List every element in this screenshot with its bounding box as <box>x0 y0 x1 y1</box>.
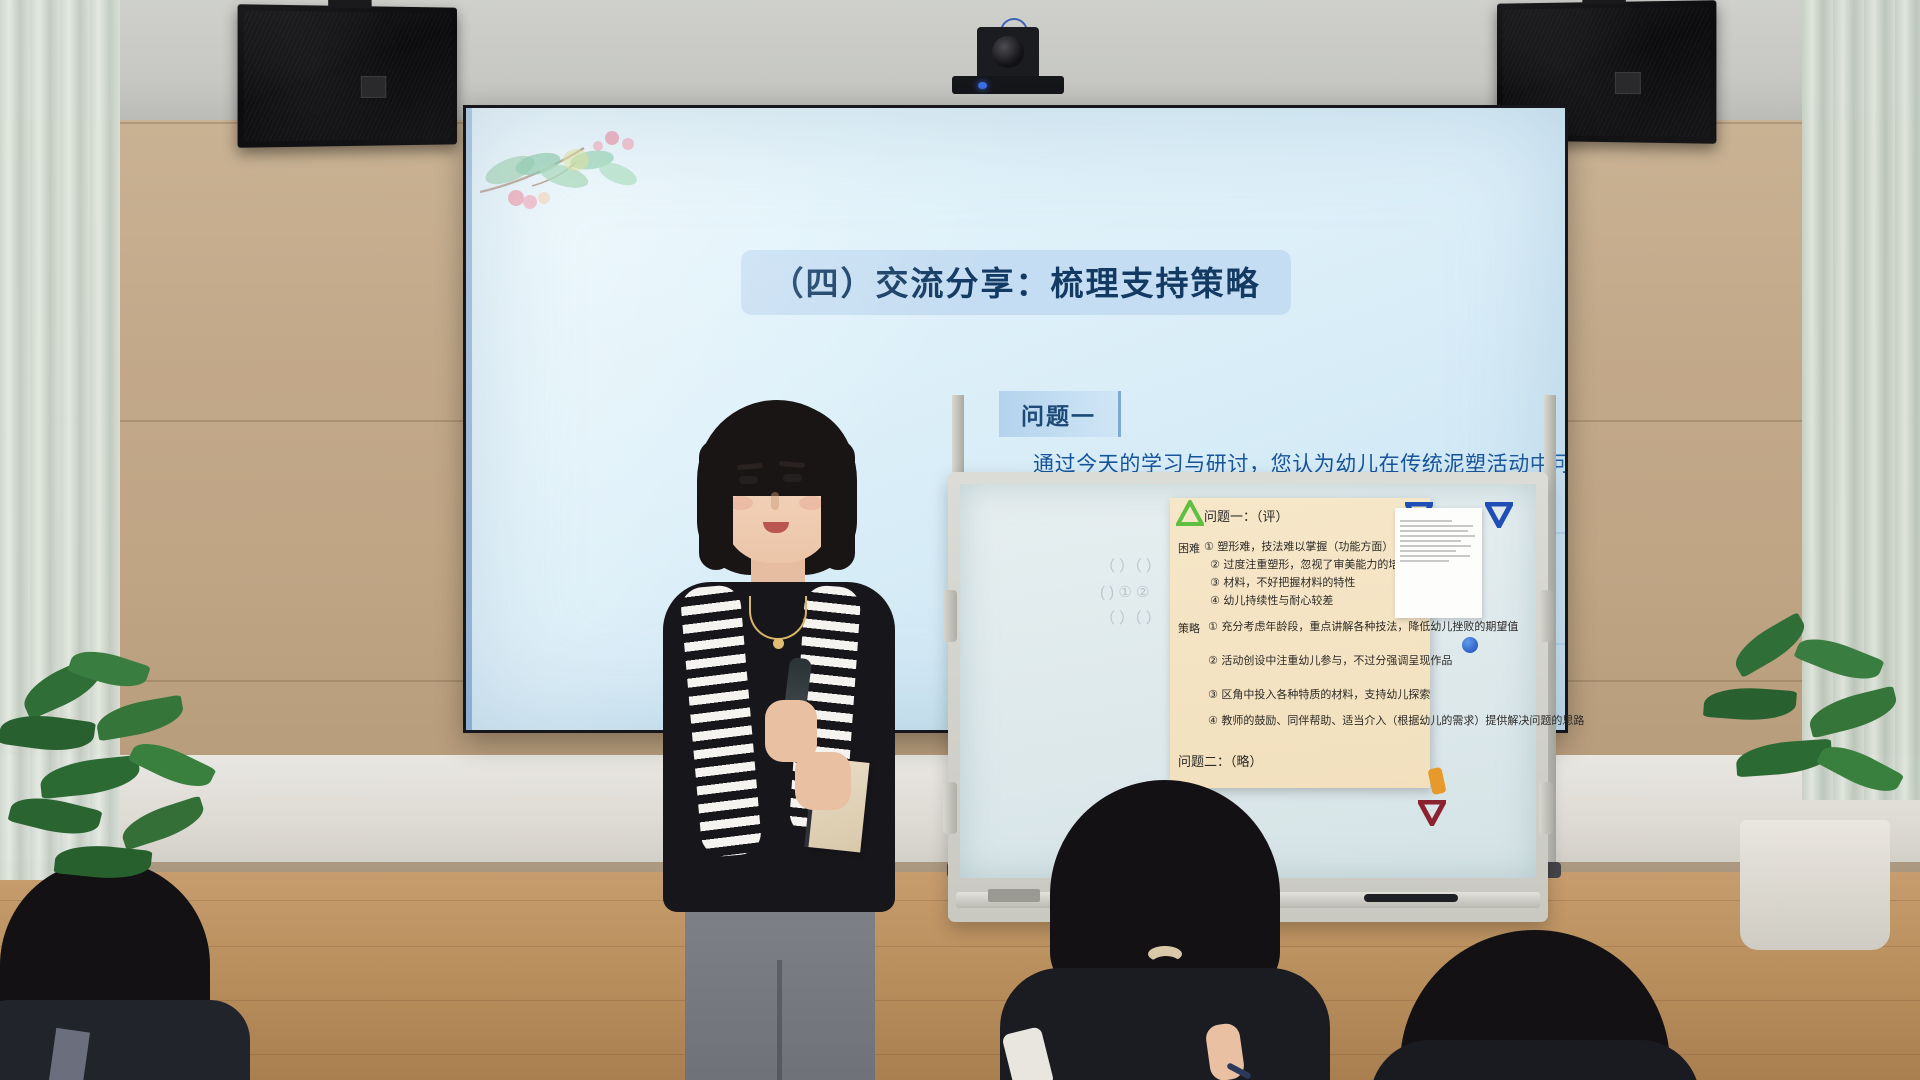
wall-speaker-left <box>238 4 457 148</box>
potted-plant-right <box>1700 630 1920 960</box>
whiteboard-clip-right <box>1539 590 1553 642</box>
flipchart-strategy-2: ② 活动创设中注重幼儿参与，不过分强调呈现作品 <box>1208 652 1452 669</box>
training-room-scene: （四）交流分享：梳理支持策略 问题一 通过今天的学习与研讨，您认为幼儿在传统泥塑… <box>0 0 1920 1080</box>
green-triangle-magnet[interactable] <box>1176 500 1204 531</box>
presenter-speaking <box>645 400 915 1080</box>
camera-mount <box>952 76 1064 94</box>
printed-handout-note[interactable] <box>1395 508 1482 618</box>
whiteboard-clip-left-lower <box>943 782 957 834</box>
camera-led-icon <box>978 82 987 89</box>
whiteboard-clip-left <box>943 590 957 642</box>
camera-lens-icon <box>992 36 1024 68</box>
audience-member-right <box>1370 930 1700 1080</box>
flipchart-difficulty-label: 困难 <box>1178 540 1200 557</box>
potted-plant-left <box>0 650 280 950</box>
flipchart-strategy-label: 策略 <box>1178 620 1200 637</box>
flipchart-difficulty-1: ① 塑形难，技法难以掌握（功能方面） <box>1204 538 1393 555</box>
black-marker[interactable] <box>1364 894 1458 902</box>
audience-member-center <box>980 780 1340 1080</box>
blue-triangle-magnet-right[interactable] <box>1485 502 1513 533</box>
blue-dot-magnet[interactable] <box>1462 637 1478 653</box>
plant-pot-right <box>1740 820 1890 950</box>
presenter-hand-right <box>795 752 851 810</box>
flipchart-question-two-note: 问题二：（略） <box>1178 754 1263 771</box>
flipchart-strategy-4: ④ 教师的鼓励、同伴帮助、适当介入（根据幼儿的需求）提供解决问题的思路 <box>1208 712 1584 729</box>
flipchart-paper[interactable]: 问题一：（评） 困难 ① 塑形难，技法难以掌握（功能方面） ② 过度注重塑形，忽… <box>1170 498 1430 788</box>
flipchart-difficulty-4: ④ 幼儿持续性与耐心较差 <box>1210 592 1333 609</box>
flipchart-difficulty-2: ② 过度注重塑形，忽视了审美能力的培养 <box>1210 556 1410 573</box>
flipchart-heading: 问题一：（评） <box>1204 506 1289 525</box>
flipchart-strategy-3: ③ 区角中投入各种特质的材料，支持幼儿探索 <box>1208 686 1430 703</box>
red-triangle-magnet[interactable] <box>1418 800 1446 831</box>
presenter-hair-side-right <box>821 440 855 570</box>
flipchart-difficulty-3: ③ 材料，不好把握材料的特性 <box>1210 574 1355 591</box>
presenter-hair-side-left <box>699 440 733 570</box>
whiteboard-clip-right-lower <box>1539 782 1553 834</box>
flipchart-strategy-1: ① 充分考虑年龄段，重点讲解各种技法，降低幼儿挫败的期望值 <box>1208 618 1518 635</box>
